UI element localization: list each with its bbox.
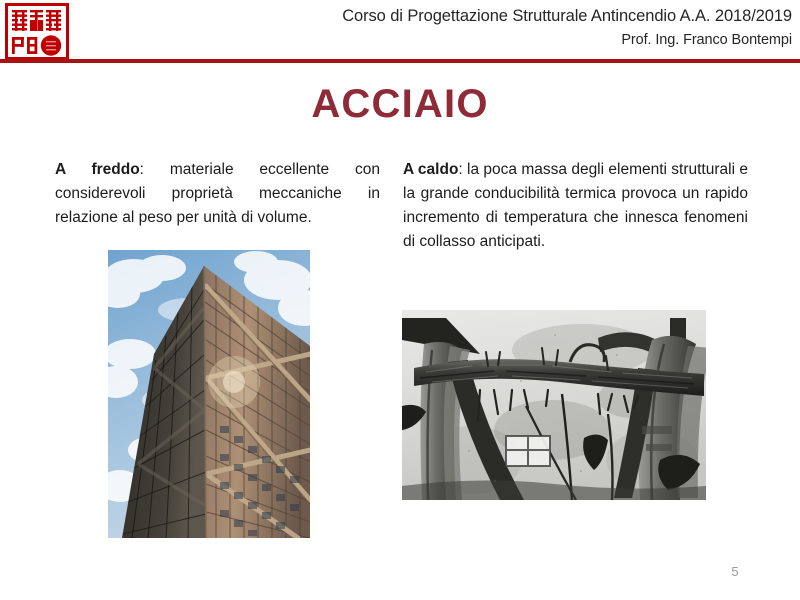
header-text-group: Corso di Progettazione Strutturale Antin… — [100, 0, 792, 49]
header-divider — [0, 59, 800, 63]
lead-separator-left: : — [140, 161, 170, 178]
red-seal-logo — [5, 3, 69, 60]
slide: Corso di Progettazione Strutturale Antin… — [0, 0, 800, 600]
text-block-a-caldo: A caldo: la poca massa degli elementi st… — [403, 158, 748, 254]
fire-damaged-steel-photo — [402, 310, 706, 500]
page-title: ACCIAIO — [0, 82, 800, 127]
text-block-a-freddo: A freddo: materiale eccellente con consi… — [55, 158, 380, 230]
skyscraper-photo — [108, 250, 310, 538]
lecturer-name: Prof. Ing. Franco Bontempi — [100, 32, 792, 49]
page-number: 5 — [700, 564, 770, 579]
course-title: Corso di Progettazione Strutturale Antin… — [100, 7, 792, 26]
lead-label-a-freddo: A freddo — [55, 161, 140, 178]
slide-header: Corso di Progettazione Strutturale Antin… — [0, 0, 800, 63]
lead-label-a-caldo: A caldo — [403, 161, 458, 178]
lead-separator-right: : — [458, 161, 467, 178]
